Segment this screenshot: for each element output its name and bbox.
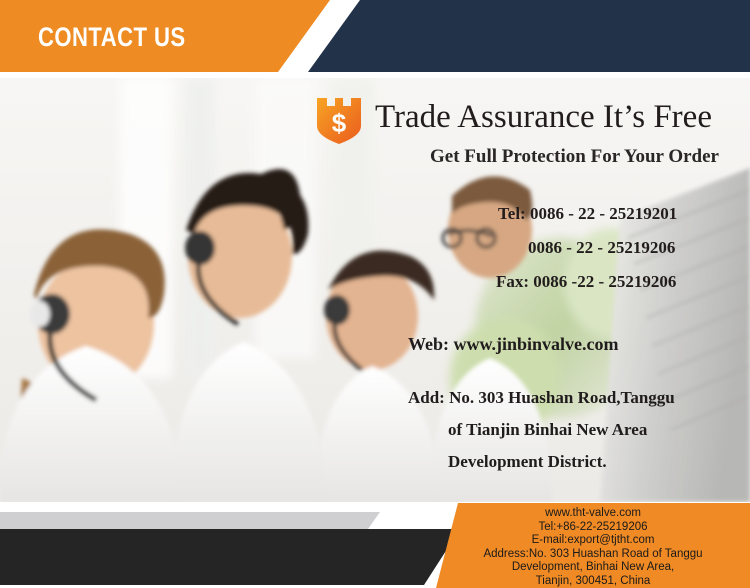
fax-line: Fax: 0086 -22 - 25219206: [496, 272, 676, 292]
page-title: CONTACT US: [38, 22, 186, 52]
footer-line-address-2: Development, Binhai New Area,: [512, 561, 674, 575]
address-block: Add: No. 303 Huashan Road,Tanggu of Tian…: [408, 382, 740, 478]
telephone-line-2: 0086 - 22 - 25219206: [528, 238, 675, 258]
website-line[interactable]: Web: www.jinbinvalve.com: [408, 334, 619, 355]
footer-line-email[interactable]: E-mail:export@tjtht.com: [532, 534, 655, 548]
trade-assurance-shield-icon: $: [313, 96, 365, 144]
contact-us-banner: CONTACT US: [0, 0, 750, 588]
address-line-2: of Tianjin Binhai New Area: [408, 414, 740, 446]
trade-assurance-subtitle: Get Full Protection For Your Order: [430, 146, 719, 168]
footer-line-tel: Tel:+86-22-25219206: [538, 521, 647, 535]
header-navy-panel: [290, 0, 750, 72]
telephone-line-1: Tel: 0086 - 22 - 25219201: [498, 204, 677, 224]
trade-assurance-title: Trade Assurance It’s Free: [375, 94, 712, 140]
contact-info-block: $ Trade Assurance It’s Free Get Full Pro…: [300, 86, 750, 486]
footer-contact-text: www.tht-valve.com Tel:+86-22-25219206 E-…: [436, 503, 750, 588]
banner-header: CONTACT US: [0, 0, 750, 76]
footer-line-website[interactable]: www.tht-valve.com: [545, 507, 641, 521]
address-line-3: Development District.: [408, 446, 740, 478]
footer-line-address-3: Tianjin, 300451, China: [536, 575, 651, 588]
svg-text:$: $: [332, 108, 347, 138]
address-line-1: Add: No. 303 Huashan Road,Tanggu: [408, 382, 740, 414]
footer-grey-bar: [0, 512, 380, 529]
footer-line-address-1: Address:No. 303 Huashan Road of Tanggu: [483, 548, 702, 562]
footer-dark-bar: [0, 529, 460, 585]
header-orange-panel: CONTACT US: [0, 0, 330, 72]
trade-assurance-row: $ Trade Assurance It’s Free: [305, 92, 750, 144]
